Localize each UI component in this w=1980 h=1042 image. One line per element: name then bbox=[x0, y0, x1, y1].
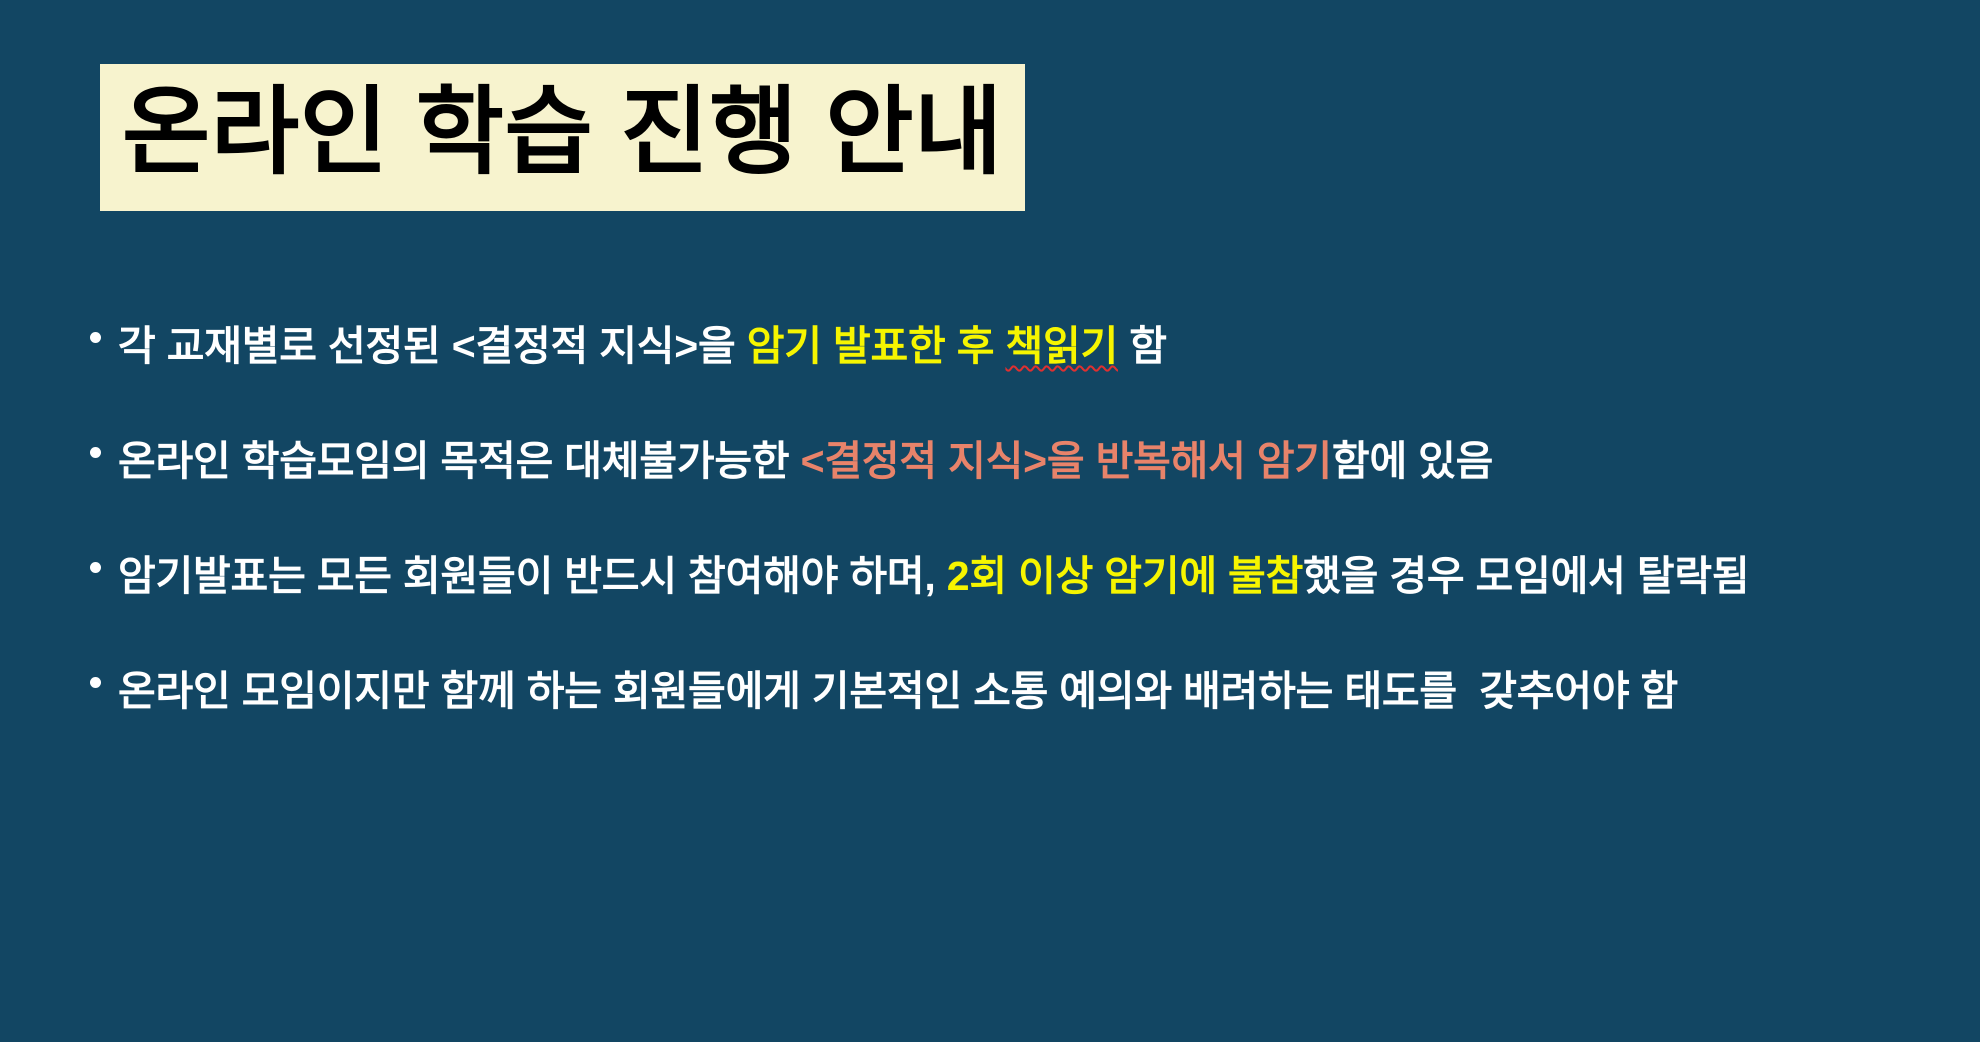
list-item: 온라인 모임이지만 함께 하는 회원들에게 기본적인 소통 예의와 배려하는 태… bbox=[84, 655, 1944, 728]
list-item-text: 각 교재별로 선정된 <결정적 지식>을 암기 발표한 후 책읽기 함 bbox=[118, 310, 1944, 383]
bullet-dot-glyph bbox=[90, 562, 101, 573]
bullet-dot-icon bbox=[84, 425, 118, 458]
bullet-dot-icon bbox=[84, 655, 118, 688]
list-item: 암기발표는 모든 회원들이 반드시 참여해야 하며, 2회 이상 암기에 불참했… bbox=[84, 540, 1944, 613]
spellcheck-underlined-text: 책읽기 bbox=[1005, 323, 1118, 369]
list-item-text: 온라인 모임이지만 함께 하는 회원들에게 기본적인 소통 예의와 배려하는 태… bbox=[118, 655, 1944, 728]
bullet-dot-icon bbox=[84, 540, 118, 573]
page-title: 온라인 학습 진행 안내 bbox=[100, 64, 1025, 211]
text-segment: 암기발표는 모든 회원들이 반드시 참여해야 하며, bbox=[118, 553, 947, 599]
text-segment: 온라인 모임이지만 함께 하는 회원들에게 기본적인 소통 예의와 배려하는 태… bbox=[118, 668, 1678, 714]
bullet-list: 각 교재별로 선정된 <결정적 지식>을 암기 발표한 후 책읽기 함온라인 학… bbox=[84, 310, 1944, 770]
text-segment: 2회 이상 암기에 불참 bbox=[947, 553, 1303, 599]
list-item: 각 교재별로 선정된 <결정적 지식>을 암기 발표한 후 책읽기 함 bbox=[84, 310, 1944, 383]
list-item-text: 암기발표는 모든 회원들이 반드시 참여해야 하며, 2회 이상 암기에 불참했… bbox=[118, 540, 1944, 613]
bullet-dot-glyph bbox=[90, 332, 101, 343]
bullet-dot-glyph bbox=[90, 447, 101, 458]
text-segment: 온라인 학습모임의 목적은 대체불가능한 bbox=[118, 438, 801, 484]
text-segment: 함에 있음 bbox=[1332, 438, 1493, 484]
bullet-dot-glyph bbox=[90, 677, 101, 688]
text-segment: 암기 발표한 후 bbox=[747, 323, 1006, 369]
bullet-dot-icon bbox=[84, 310, 118, 343]
list-item: 온라인 학습모임의 목적은 대체불가능한 <결정적 지식>을 반복해서 암기함에… bbox=[84, 425, 1944, 498]
text-segment: 했을 경우 모임에서 탈락됨 bbox=[1303, 553, 1749, 599]
list-item-text: 온라인 학습모임의 목적은 대체불가능한 <결정적 지식>을 반복해서 암기함에… bbox=[118, 425, 1944, 498]
presentation-slide: 온라인 학습 진행 안내 각 교재별로 선정된 <결정적 지식>을 암기 발표한… bbox=[0, 0, 1980, 1042]
text-segment: 각 교재별로 선정된 <결정적 지식>을 bbox=[118, 323, 747, 369]
text-segment: 함 bbox=[1118, 323, 1167, 369]
slide-title-container: 온라인 학습 진행 안내 bbox=[100, 64, 1025, 211]
text-segment: <결정적 지식>을 반복해서 암기 bbox=[801, 438, 1332, 484]
